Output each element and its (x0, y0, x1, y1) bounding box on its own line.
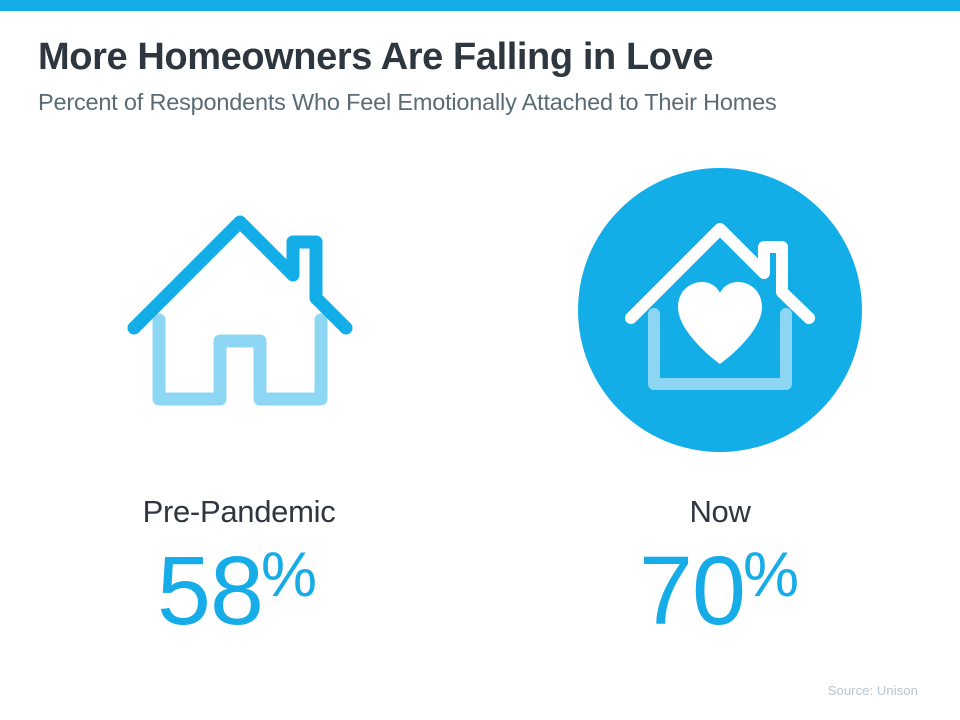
column-value-now: 70% (480, 542, 960, 639)
page-title: More Homeowners Are Falling in Love (38, 38, 928, 78)
value-number-now: 70 (639, 536, 745, 645)
page-subtitle: Percent of Respondents Who Feel Emotiona… (38, 90, 928, 116)
column-value-pre-pandemic: 58% (0, 542, 478, 639)
comparison-columns: Pre-Pandemic 58% Now (0, 160, 960, 660)
house-outline-icon (0, 160, 480, 480)
percent-symbol-now: % (743, 540, 799, 610)
column-label-now: Now (480, 494, 960, 530)
header: More Homeowners Are Falling in Love Perc… (38, 38, 928, 116)
source-attribution: Source: Unison (828, 683, 918, 698)
value-number-pre-pandemic: 58 (157, 536, 263, 645)
top-accent-bar (0, 0, 960, 11)
column-pre-pandemic: Pre-Pandemic 58% (0, 160, 480, 660)
house-with-heart-in-circle-icon (480, 160, 960, 480)
percent-symbol-pre-pandemic: % (261, 540, 317, 610)
infographic-slide: More Homeowners Are Falling in Love Perc… (0, 0, 960, 720)
column-label-pre-pandemic: Pre-Pandemic (0, 494, 479, 530)
column-now: Now 70% (480, 160, 960, 660)
